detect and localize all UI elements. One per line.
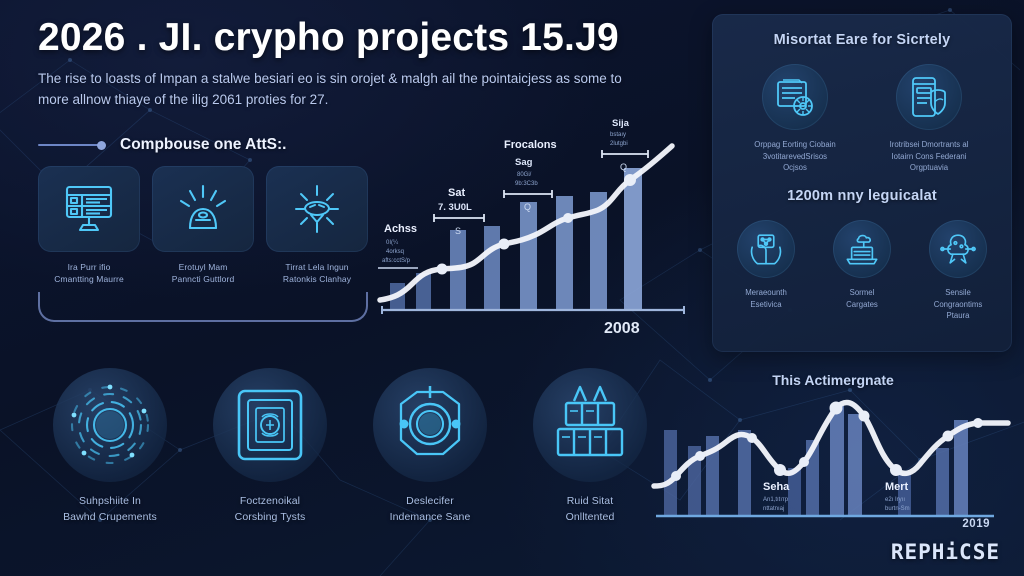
chart-annotation: Sat 7. 3U0L S xyxy=(434,187,484,236)
bottom-circle-bg xyxy=(53,368,167,482)
dashboard-monitor-icon xyxy=(62,184,116,234)
server-stack-icon xyxy=(548,383,632,467)
right-panel-item-circle xyxy=(896,64,962,130)
right-panel-item-circle xyxy=(929,220,987,278)
chart-annotation: Seha An1,tıtıтр nttatnıaj xyxy=(763,481,790,512)
annotation-marker: Q xyxy=(524,202,531,212)
left-card-list: Ira Purr ifioCmantting Maurre xyxy=(38,166,368,286)
bottom-circle-row: Suhpshiite InBawhd Crupements Foctzeno xyxy=(30,368,670,526)
right-panel-item-label: Orppag Eorting Ciobain3votitarevedSrisos… xyxy=(746,139,844,174)
radial-network-icon xyxy=(66,381,154,469)
right-panel-item[interactable]: Irotribsei Dmortrants alIotairn Cons Fed… xyxy=(880,64,978,174)
annotation-detail: 9b:3C3b xyxy=(515,181,538,187)
bottom-circle-item[interactable]: Suhpshiite InBawhd Crupements xyxy=(30,368,190,526)
annotation-subtitle: Sag xyxy=(515,157,533,168)
annotation-title: Sat xyxy=(448,187,465,199)
header: 2026 . JI. crypho projects 15.J9 The ris… xyxy=(38,16,678,111)
annotation-detail: nttatnıaj xyxy=(763,506,784,512)
bottom-circle-label: Suhpshiite InBawhd Crupements xyxy=(30,494,190,526)
right-panel-item[interactable]: SensileCongraontimsPtaura xyxy=(918,220,998,322)
annotation-detail: An1,tıtıтр xyxy=(763,497,789,503)
alert-beacon-icon xyxy=(176,184,230,234)
infographic-canvas: 2026 . JI. crypho projects 15.J9 The ris… xyxy=(0,0,1024,576)
brand-logo: REPHiCSE xyxy=(891,540,1000,564)
bottom-circle-item[interactable]: DesleciferIndemance Sane xyxy=(350,368,510,526)
eye-scan-icon xyxy=(387,382,473,468)
panel-divider xyxy=(726,174,998,188)
right-panel-item-circle xyxy=(762,64,828,130)
right-panel-item-label: SensileCongraontimsPtaura xyxy=(918,287,998,322)
left-card[interactable]: Tirrat Lela IngunRatonkis Clanhay xyxy=(266,166,368,286)
right-panel-item-circle xyxy=(833,220,891,278)
bottom-circle-bg xyxy=(533,368,647,482)
annotation-title: Frocalons xyxy=(504,139,557,151)
annotation-marker: S xyxy=(455,226,461,236)
chart-annotation: Frocalons Sag 80Gi/ 9b:3C3b Q xyxy=(504,139,557,212)
leader-dot-icon xyxy=(97,141,106,150)
annotation-detail: 2lutgbi xyxy=(610,141,628,147)
right-panel-section-one-title: Misortat Eare for Sicrtely xyxy=(726,32,998,48)
document-gear-icon xyxy=(773,75,817,119)
left-group-header: Compbouse one AttS:. xyxy=(38,136,368,154)
chart-annotation: Achss 0I(¼ 4orksq afts:ссtS/р xyxy=(378,223,418,268)
right-panel-item[interactable]: SormelCargates xyxy=(822,220,902,322)
annotation-detail: burtn-Sm xyxy=(885,506,910,512)
bottom-circle-label: Ruid SitatOnlltented xyxy=(510,494,670,526)
annotation-detail: afts:ссtS/р xyxy=(382,258,411,264)
bottom-circle-label: FoctzenoikalCorsbing Tysts xyxy=(190,494,350,526)
right-panel-item-circle xyxy=(737,220,795,278)
left-group-title: Compbouse one AttS:. xyxy=(120,136,286,154)
annotation-detail: 0I(¼ xyxy=(386,240,399,246)
right-panel: Misortat Eare for Sicrtely xyxy=(712,14,1012,352)
bottom-right-chart-year: 2019 xyxy=(962,518,990,530)
left-card-tile xyxy=(152,166,254,252)
annotation-detail: 4orksq xyxy=(386,249,404,255)
left-card-label: Erotuyl MamPanncti Guttlord xyxy=(152,261,254,286)
annotation-detail: bstaıy xyxy=(610,132,626,138)
hands-data-icon xyxy=(747,230,785,268)
right-panel-item-label: MeraeounthEsetivica xyxy=(726,287,806,310)
leader-line xyxy=(38,144,98,146)
mobile-shield-icon xyxy=(907,75,951,119)
right-panel-item-label: Irotribsei Dmortrants alIotairn Cons Fed… xyxy=(880,139,978,174)
right-panel-section-one-items: Orppag Eorting Ciobain3votitarevedSrisos… xyxy=(726,64,998,174)
chart-annotation: Schuxre Sija bstaıy 2lutgbi Q xyxy=(600,118,648,172)
bottom-circle-bg xyxy=(213,368,327,482)
right-panel-item-label: SormelCargates xyxy=(822,287,902,310)
annotation-detail: e2ı Iryıı xyxy=(885,497,905,503)
annotation-marker: Q xyxy=(620,162,627,172)
network-nodes-icon xyxy=(939,230,977,268)
page-subtitle: The rise to loasts of Impan a stalwe bes… xyxy=(38,69,623,111)
left-card[interactable]: Erotuyl MamPanncti Guttlord xyxy=(152,166,254,286)
page-title: 2026 . JI. crypho projects 15.J9 xyxy=(38,16,678,60)
center-growth-chart: Achss 0I(¼ 4orksq afts:ссtS/р Sat 7. 3U0… xyxy=(372,118,702,333)
right-panel-item[interactable]: Orppag Eorting Ciobain3votitarevedSrisos… xyxy=(746,64,844,174)
chart-year-label: 2008 xyxy=(604,320,640,333)
bottom-circle-bg xyxy=(373,368,487,482)
annotation-subtitle: Sija xyxy=(612,118,630,129)
left-card-label: Ira Purr ifioCmantting Maurre xyxy=(38,261,140,286)
annotation-title: Mert xyxy=(885,481,909,493)
bottom-right-chart-title: This Actimergnate xyxy=(648,372,1018,388)
annotation-detail: 80Gi/ xyxy=(517,172,532,178)
annotation-subtitle: 7. 3U0L xyxy=(438,202,472,213)
group-brace xyxy=(38,292,368,322)
laptop-cloud-icon xyxy=(843,230,881,268)
bottom-circle-item[interactable]: Ruid SitatOnlltented xyxy=(510,368,670,526)
right-panel-section-two-title: 1200m nny leguicalat xyxy=(726,188,998,204)
annotation-title: Achss xyxy=(384,223,417,235)
shield-burst-icon xyxy=(290,184,344,234)
left-card[interactable]: Ira Purr ifioCmantting Maurre xyxy=(38,166,140,286)
right-panel-section-two-items: MeraeounthEsetivica S xyxy=(726,220,998,322)
left-card-tile xyxy=(266,166,368,252)
left-card-label: Tirrat Lela IngunRatonkis Clanhay xyxy=(266,261,368,286)
bottom-right-wave-chart: Seha An1,tıtıтр nttatnıaj Mert e2ı Iryıı… xyxy=(648,368,1018,538)
bottom-circle-label: DesleciferIndemance Sane xyxy=(350,494,510,526)
right-panel-item[interactable]: MeraeounthEsetivica xyxy=(726,220,806,322)
left-card-tile xyxy=(38,166,140,252)
bottom-circle-item[interactable]: FoctzenoikalCorsbing Tysts xyxy=(190,368,350,526)
annotation-title: Seha xyxy=(763,481,790,493)
left-card-group: Compbouse one AttS:. xyxy=(38,136,368,322)
secure-chip-icon xyxy=(231,386,309,464)
